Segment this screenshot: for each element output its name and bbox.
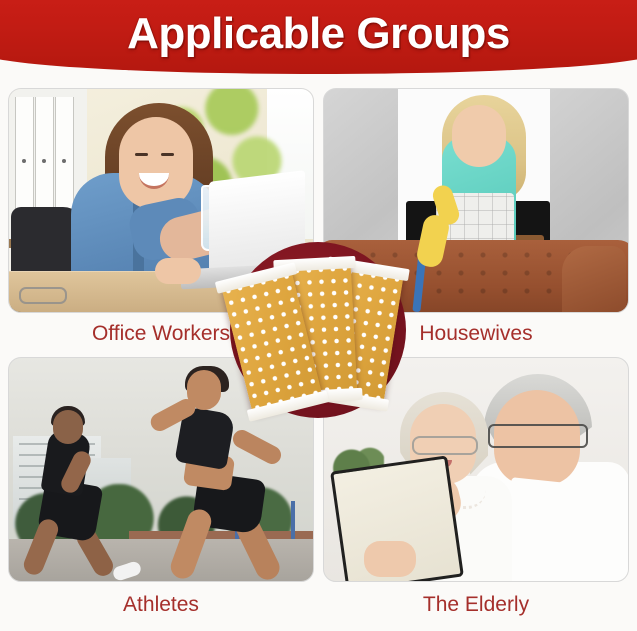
group-label-athletes: Athletes (8, 592, 314, 618)
male-runner-head (53, 410, 83, 444)
elderly-man-collar (509, 477, 568, 511)
page-title: Applicable Groups (0, 5, 637, 63)
woman-typing-hand (155, 258, 201, 284)
product-medallion (230, 242, 406, 418)
woman-eye-right (161, 153, 174, 156)
woman-eye-left (135, 153, 148, 156)
header-banner: Applicable Groups (0, 0, 637, 86)
eyeglasses-on-desk (19, 287, 67, 304)
woman-face (119, 117, 193, 209)
sofa-armrest (562, 246, 626, 312)
elderly-woman-eyeglasses (412, 436, 478, 455)
housewife-face (452, 105, 506, 167)
applicable-groups-poster: Applicable Groups (0, 0, 637, 631)
elderly-man-eyeglasses (488, 424, 588, 448)
group-label-the-elderly: The Elderly (323, 592, 629, 618)
hand-holding-tablet (364, 541, 416, 577)
female-runner-arm-back (230, 427, 284, 467)
